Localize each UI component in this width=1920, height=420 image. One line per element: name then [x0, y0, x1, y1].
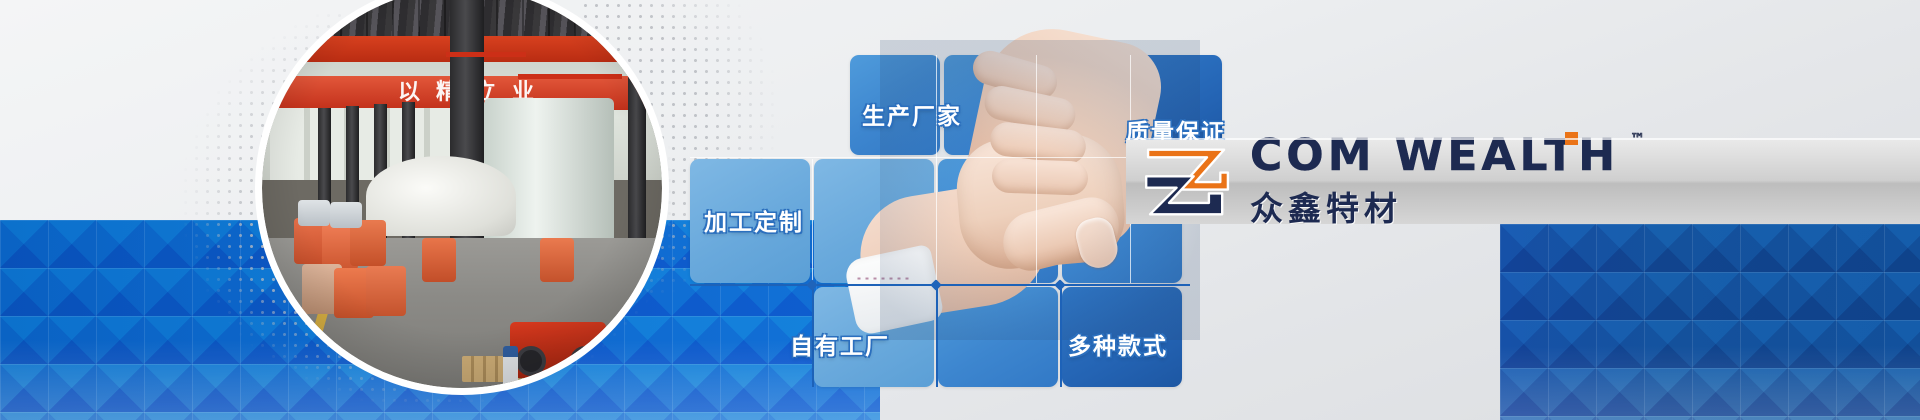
photo-vignette	[262, 0, 662, 388]
tile-blank-d	[938, 159, 1058, 283]
tile-blank-c	[814, 159, 934, 283]
pyramid-grid-lines-right	[1500, 224, 1920, 420]
promotional-banner: 以精立业	[0, 0, 1920, 420]
factory-photo-ring: 以精立业	[262, 0, 662, 388]
tile-own-factory[interactable]	[814, 287, 934, 387]
tile-styles[interactable]	[1062, 287, 1182, 387]
company-logo-plate: COM WEALTH ™ 众鑫特材	[1126, 140, 1920, 224]
logo-plate-top-edge	[1126, 138, 1920, 140]
logo-english-text: COM WEALTH ™	[1250, 134, 1619, 178]
bottom-blue-band-right	[1500, 224, 1920, 420]
tile-quality[interactable]	[1038, 55, 1128, 155]
logo-wordmark: COM WEALTH ™ 众鑫特材	[1250, 134, 1619, 230]
brand-mark-icon	[1140, 144, 1236, 220]
factory-interior-photo: 以精立业	[262, 0, 662, 388]
tile-manufacturer[interactable]	[850, 55, 940, 155]
tile-blank-a	[944, 55, 1034, 155]
tile-blank-f	[938, 287, 1058, 387]
worker	[614, 328, 630, 374]
logo-chinese-text: 众鑫特材	[1250, 182, 1619, 230]
tile-customization[interactable]	[690, 159, 810, 283]
